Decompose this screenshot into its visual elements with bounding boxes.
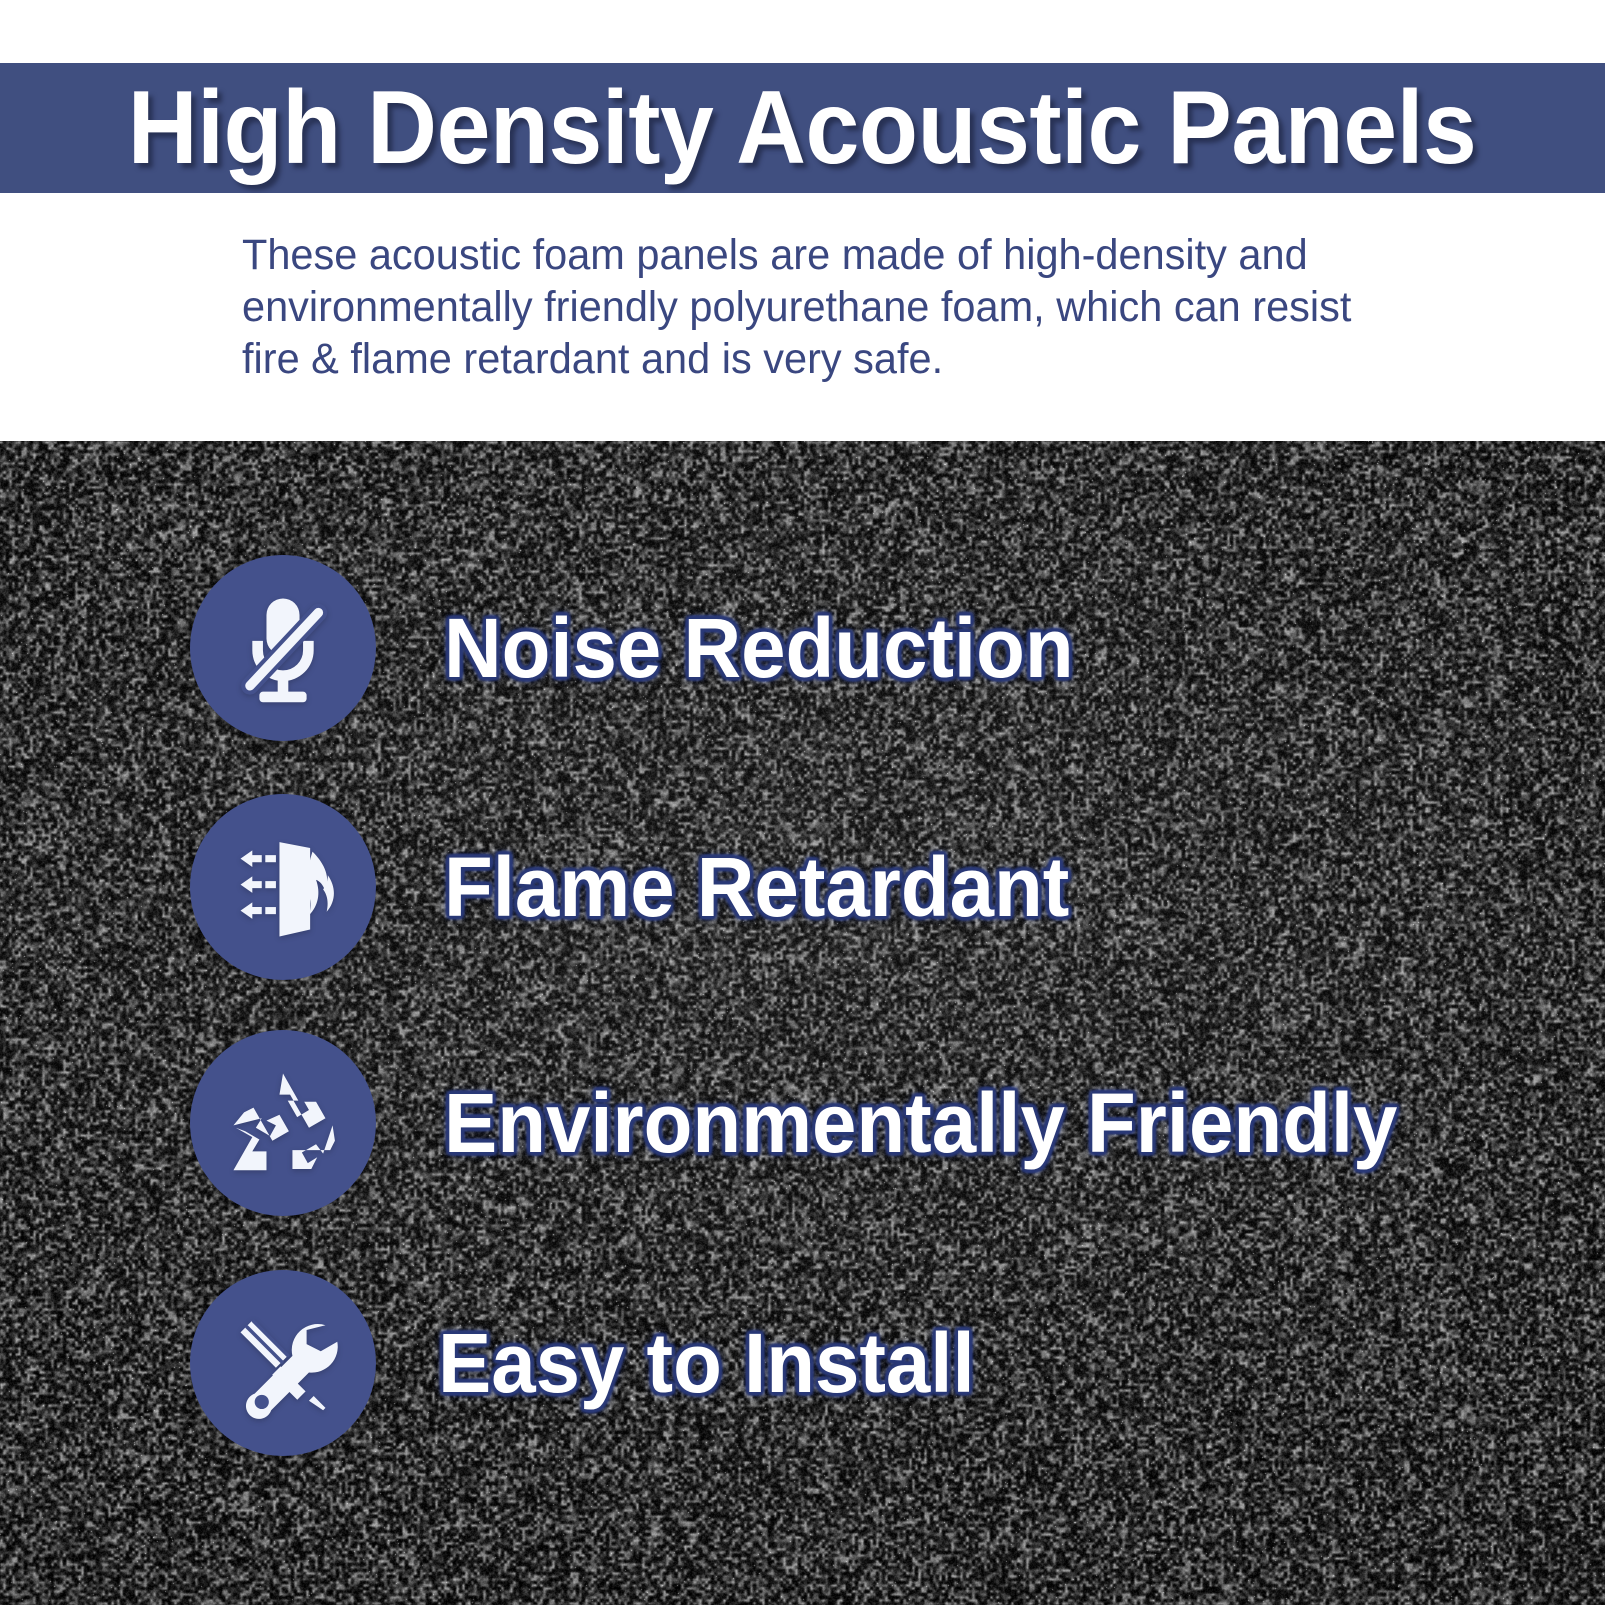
header-banner: High Density Acoustic Panels bbox=[0, 63, 1605, 193]
top-white-margin bbox=[0, 0, 1605, 63]
feature-label: Noise Reduction bbox=[444, 606, 1074, 690]
flame-blocked-by-panel-icon bbox=[224, 828, 342, 946]
feature-icon-badge bbox=[190, 555, 376, 741]
description-block: These acoustic foam panels are made of h… bbox=[0, 193, 1605, 441]
feature-label: Easy to Install bbox=[438, 1321, 975, 1405]
feature-icon-badge bbox=[190, 794, 376, 980]
wrench-and-screwdriver-icon bbox=[224, 1304, 342, 1422]
feature-label: Flame Retardant bbox=[444, 845, 1069, 929]
recycle-icon bbox=[224, 1064, 342, 1182]
feature-icon-badge bbox=[190, 1030, 376, 1216]
muted-microphone-icon bbox=[224, 589, 342, 707]
list-item: Flame Retardant bbox=[190, 794, 1102, 980]
feature-icon-badge bbox=[190, 1270, 376, 1456]
feature-list: Noise Reduction bbox=[0, 441, 1605, 1605]
page-title: High Density Acoustic Panels bbox=[128, 76, 1477, 180]
list-item: Environmentally Friendly bbox=[190, 1030, 1448, 1216]
description-text: These acoustic foam panels are made of h… bbox=[242, 229, 1361, 385]
foam-texture-background: Noise Reduction bbox=[0, 441, 1605, 1605]
product-feature-infographic: High Density Acoustic Panels These acous… bbox=[0, 0, 1605, 1605]
feature-label: Environmentally Friendly bbox=[444, 1081, 1397, 1165]
list-item: Easy to Install bbox=[190, 1270, 1003, 1456]
list-item: Noise Reduction bbox=[190, 555, 1107, 741]
